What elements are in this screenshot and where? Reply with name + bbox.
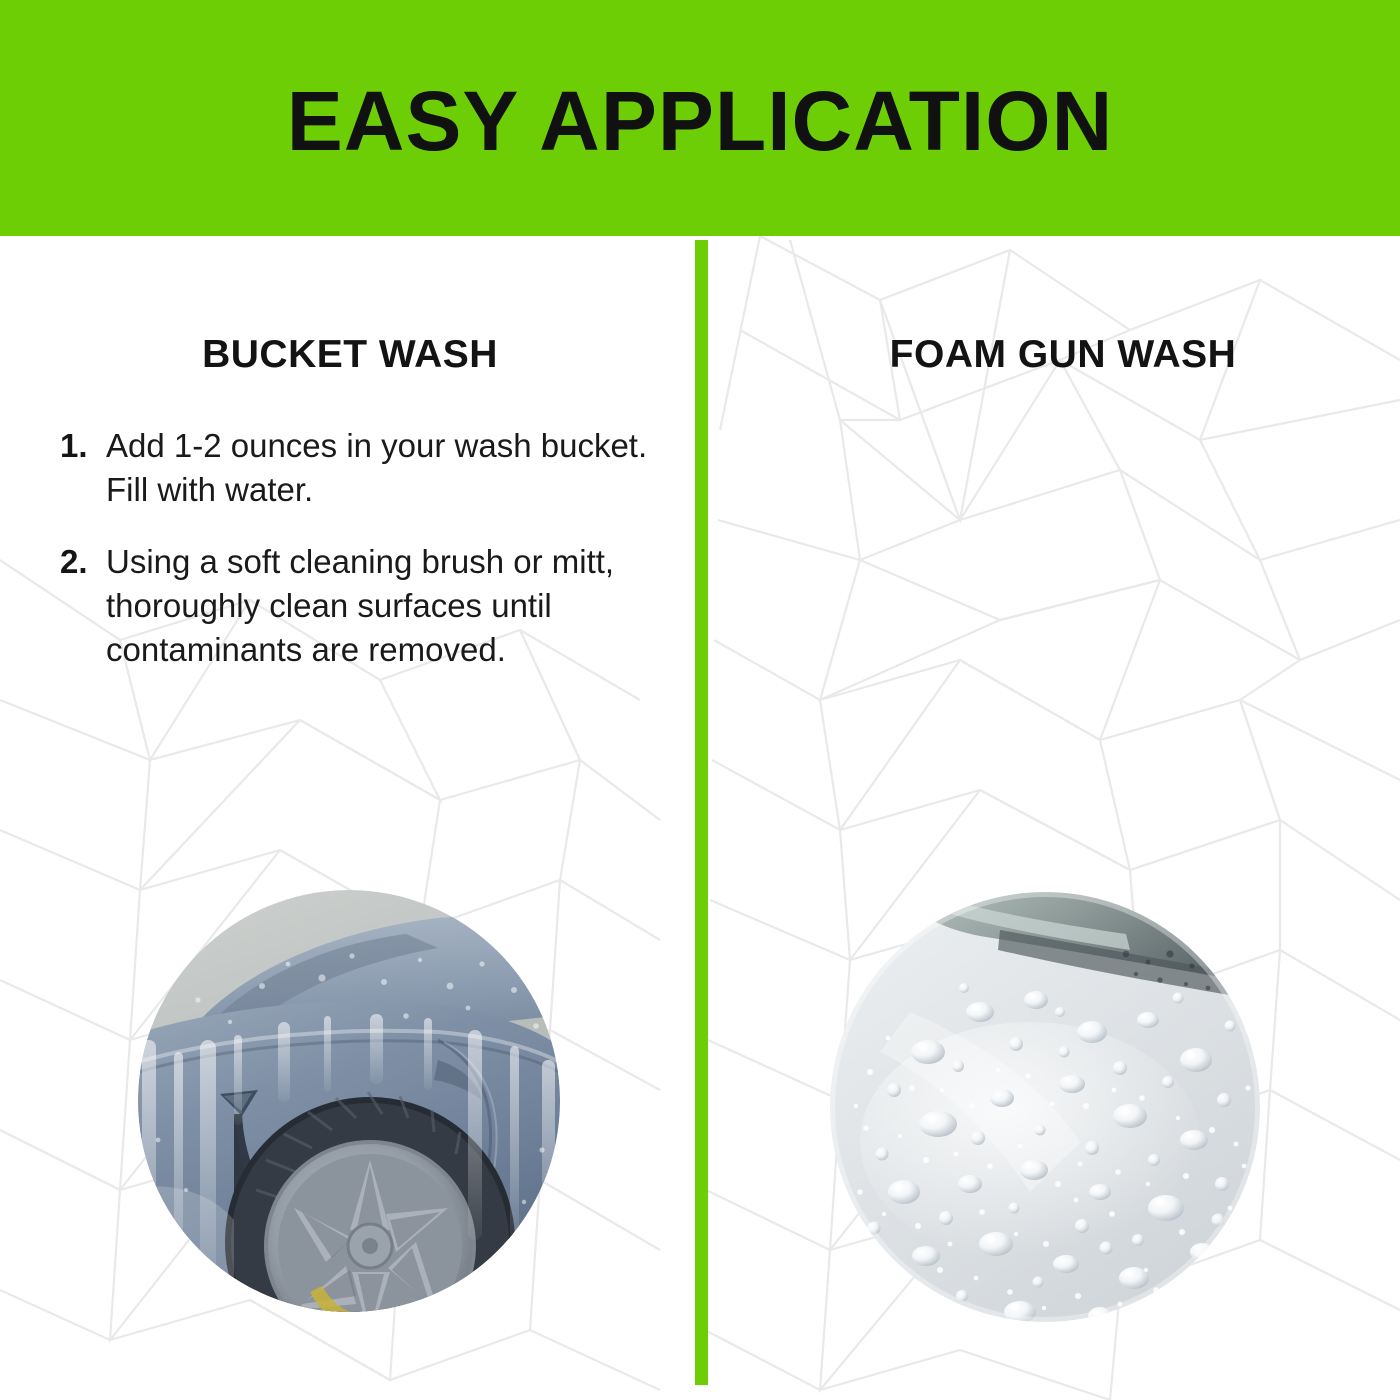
column-heading-bucket-wash: BUCKET WASH	[0, 335, 700, 374]
step-number: 2.	[60, 540, 106, 584]
list-item: 2. Using a soft cleaning brush or mitt, …	[60, 540, 660, 672]
soapy-car-fender-photo	[138, 890, 560, 1312]
step-number: 1.	[60, 424, 106, 468]
list-item: 1. Add 1-2 ounces in your wash bucket. F…	[60, 424, 660, 512]
column-divider	[695, 240, 708, 1385]
step-text: Add 1-2 ounces in your wash bucket. Fill…	[106, 424, 660, 512]
step-text: Using a soft cleaning brush or mitt, tho…	[106, 540, 660, 672]
water-beading-photo	[830, 892, 1260, 1322]
header-banner: EASY APPLICATION	[0, 0, 1400, 236]
page-title: EASY APPLICATION	[287, 79, 1114, 163]
infographic-canvas: EASY APPLICATION BUCKET WASH 1. Add 1-2 …	[0, 0, 1400, 1400]
steps-list-bucket-wash: 1. Add 1-2 ounces in your wash bucket. F…	[60, 424, 660, 700]
column-heading-foam-gun-wash: FOAM GUN WASH	[713, 335, 1400, 374]
